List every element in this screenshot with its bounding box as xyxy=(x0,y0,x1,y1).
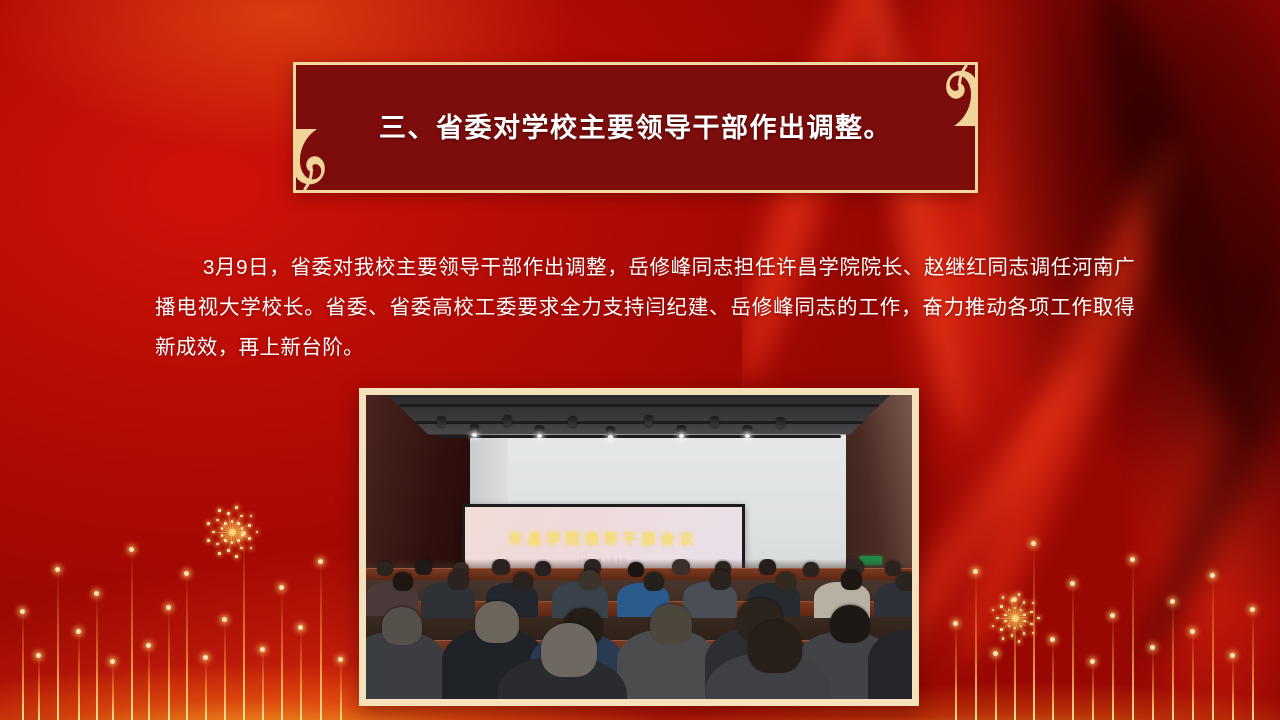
photo-stage-light xyxy=(677,425,686,436)
slide-title: 三、省委对学校主要领导干部作出调整。 xyxy=(379,106,892,145)
photo-stage-light xyxy=(503,415,512,426)
photo-audience xyxy=(366,559,912,699)
presentation-slide: 三、省委对学校主要领导干部作出调整。 3月9日，省委对我校主要领导干部作出调整，… xyxy=(0,0,1280,720)
firework-sparkle-right xyxy=(985,588,1045,648)
meeting-photo-frame: 许昌学院领导干部会议 2021年3月9日 xyxy=(359,388,919,706)
photo-stage-light xyxy=(470,424,479,435)
body-paragraph: 3月9日，省委对我校主要领导干部作出调整，岳修峰同志担任许昌学院院长、赵继红同志… xyxy=(155,248,1135,368)
ruyi-cloud-ornament-icon xyxy=(293,129,357,193)
photo-stage-light xyxy=(606,426,615,437)
photo-stage-light xyxy=(568,416,577,427)
photo-truss xyxy=(415,421,863,424)
photo-stage-light xyxy=(710,416,719,427)
ruyi-cloud-ornament-icon xyxy=(914,62,978,126)
photo-stage-light xyxy=(437,416,446,427)
photo-ceiling xyxy=(388,395,890,435)
slide-title-banner: 三、省委对学校主要领导干部作出调整。 xyxy=(293,62,978,193)
photo-stage-light xyxy=(743,425,752,436)
photo-truss xyxy=(437,435,841,438)
meeting-photo: 许昌学院领导干部会议 2021年3月9日 xyxy=(366,395,912,699)
photo-truss xyxy=(399,404,880,407)
photo-stage-light xyxy=(776,417,785,428)
firework-sparkle-left xyxy=(200,500,264,564)
photo-screen-title: 许昌学院领导干部会议 xyxy=(509,529,699,549)
